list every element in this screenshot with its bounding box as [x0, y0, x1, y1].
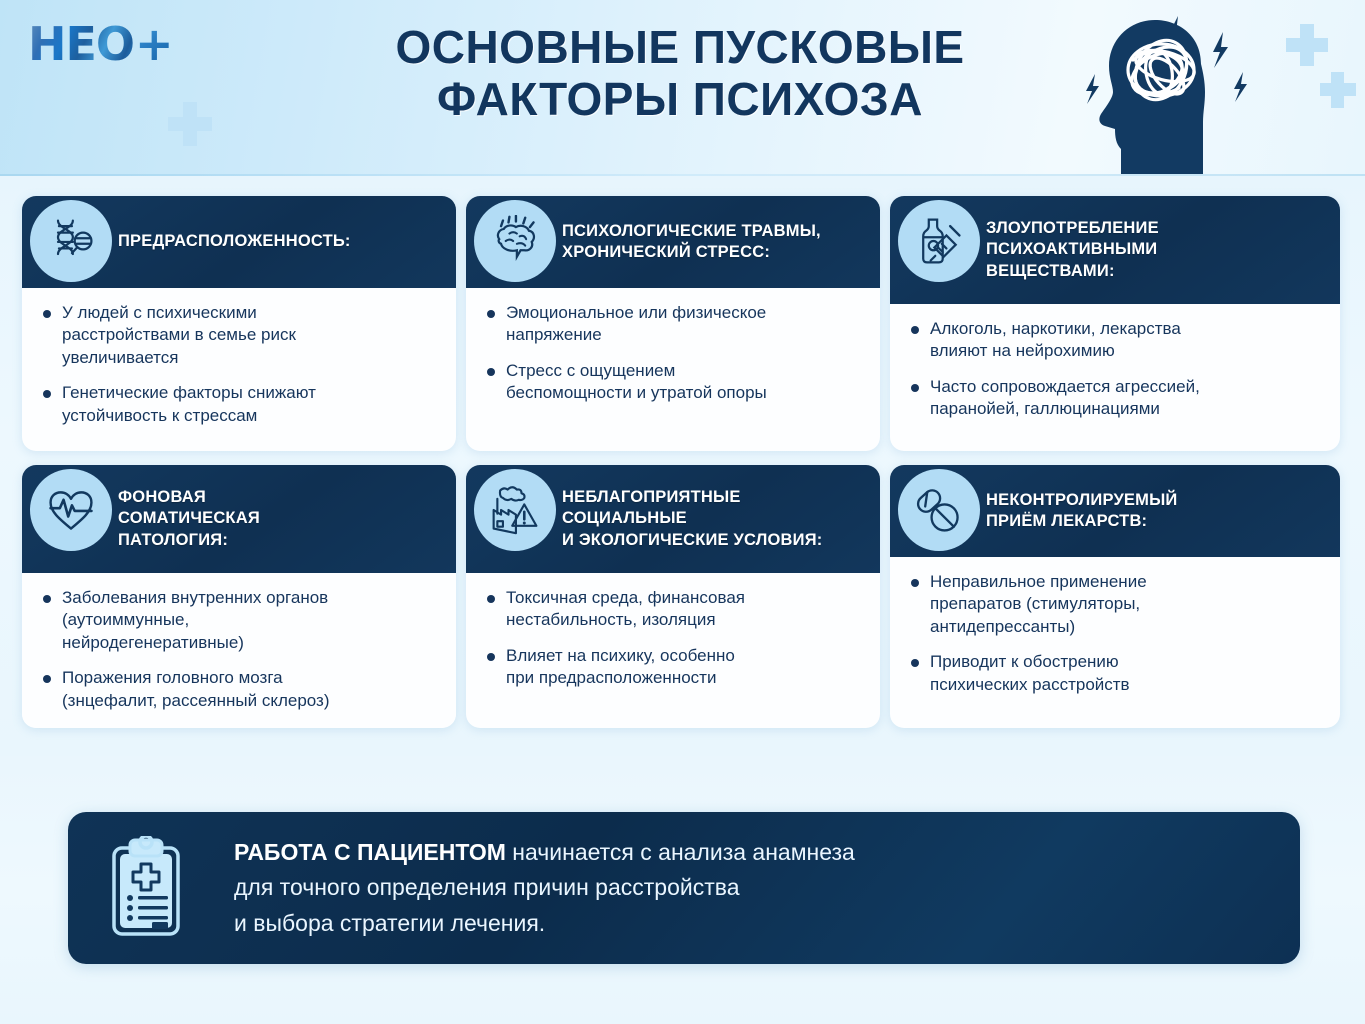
brand-logo[interactable]: НЕО +: [28, 18, 174, 70]
clipboard-medical-icon: [92, 836, 200, 940]
list-item: Стресс с ощущением беспомощности и утрат…: [480, 360, 864, 405]
logo-plus-icon: +: [135, 21, 174, 67]
footer-text: РАБОТА С ПАЦИЕНТОМ начинается с анализа …: [234, 835, 855, 942]
page-title-line-2: ФАКТОРЫ ПСИХОЗА: [330, 74, 1030, 126]
plus-decoration-header-3: [1320, 72, 1356, 108]
factor-card-body: Эмоциональное или физическое напряжениеС…: [466, 288, 880, 421]
dna-magnifier-icon: [30, 200, 112, 282]
factor-bullet-list: Заболевания внутренних органов (аутоимму…: [36, 587, 440, 712]
factor-bullet-list: Неправильное применение препаратов (стим…: [904, 571, 1324, 696]
factor-card-header: НЕКОНТРОЛИРУЕМЫЙ ПРИЁМ ЛЕКАРСТВ:: [890, 465, 1340, 557]
factor-cards-grid: ПРЕДРАСПОЛОЖЕННОСТЬ:У людей с психически…: [22, 196, 1344, 728]
factor-bullet-list: Эмоциональное или физическое напряжениеС…: [480, 302, 864, 405]
page-title-line-1: ОСНОВНЫЕ ПУСКОВЫЕ: [330, 22, 1030, 74]
footer-bold-lead: РАБОТА С ПАЦИЕНТОМ: [234, 839, 506, 865]
list-item: Заболевания внутренних органов (аутоимму…: [36, 587, 440, 654]
footer-line-1: РАБОТА С ПАЦИЕНТОМ начинается с анализа …: [234, 835, 855, 871]
head-with-tangled-thoughts-icon: [1053, 4, 1283, 174]
list-item: Токсичная среда, финансовая нестабильнос…: [480, 587, 864, 632]
factor-card-body: Алкоголь, наркотики, лекарства влияют на…: [890, 304, 1340, 437]
list-item: Алкоголь, наркотики, лекарства влияют на…: [904, 318, 1324, 363]
plus-decoration-header-2: [1286, 24, 1328, 66]
stressed-brain-icon: [474, 200, 556, 282]
list-item: Неправильное применение препаратов (стим…: [904, 571, 1324, 638]
factor-card-title: ПРЕДРАСПОЛОЖЕННОСТЬ:: [118, 231, 351, 252]
factor-card-title: НЕБЛАГОПРИЯТНЫЕ СОЦИАЛЬНЫЕ И ЭКОЛОГИЧЕСК…: [562, 487, 822, 550]
page-header: НЕО + ОСНОВНЫЕ ПУСКОВЫЕ ФАКТОРЫ ПСИХОЗА: [0, 0, 1365, 176]
pills-icon: [898, 469, 980, 551]
list-item: Поражения головного мозга (знцефалит, ра…: [36, 667, 440, 712]
factor-card-header: ЗЛОУПОТРЕБЛЕНИЕ ПСИХОАКТИВНЫМИ ВЕЩЕСТВАМ…: [890, 196, 1340, 304]
list-item: Часто сопровождается агрессией, паранойе…: [904, 376, 1324, 421]
factor-card: ФОНОВАЯ СОМАТИЧЕСКАЯ ПАТОЛОГИЯ:Заболеван…: [22, 465, 456, 728]
factor-bullet-list: У людей с психическими расстройствами в …: [36, 302, 440, 427]
factor-card-title: ПСИХОЛОГИЧЕСКИЕ ТРАВМЫ, ХРОНИЧЕСКИЙ СТРЕ…: [562, 221, 821, 263]
footer-line-3: и выбора стратегии лечения.: [234, 906, 855, 942]
factor-card-body: Токсичная среда, финансовая нестабильнос…: [466, 573, 880, 706]
factor-card: ПРЕДРАСПОЛОЖЕННОСТЬ:У людей с психически…: [22, 196, 456, 451]
factor-card: НЕКОНТРОЛИРУЕМЫЙ ПРИЁМ ЛЕКАРСТВ:Неправил…: [890, 465, 1340, 728]
factor-card: НЕБЛАГОПРИЯТНЫЕ СОЦИАЛЬНЫЕ И ЭКОЛОГИЧЕСК…: [466, 465, 880, 728]
page-title: ОСНОВНЫЕ ПУСКОВЫЕ ФАКТОРЫ ПСИХОЗА: [330, 22, 1030, 125]
factor-bullet-list: Алкоголь, наркотики, лекарства влияют на…: [904, 318, 1324, 421]
factor-card-body: Неправильное применение препаратов (стим…: [890, 557, 1340, 712]
footer-line-2: для точного определения причин расстройс…: [234, 870, 855, 906]
factor-card-header: ПСИХОЛОГИЧЕСКИЕ ТРАВМЫ, ХРОНИЧЕСКИЙ СТРЕ…: [466, 196, 880, 288]
factor-card-title: ФОНОВАЯ СОМАТИЧЕСКАЯ ПАТОЛОГИЯ:: [118, 487, 260, 550]
factor-card-body: Заболевания внутренних органов (аутоимму…: [22, 573, 456, 728]
factor-card-title: ЗЛОУПОТРЕБЛЕНИЕ ПСИХОАКТИВНЫМИ ВЕЩЕСТВАМ…: [986, 218, 1159, 281]
list-item: Приводит к обострению психических расстр…: [904, 651, 1324, 696]
factor-card: ЗЛОУПОТРЕБЛЕНИЕ ПСИХОАКТИВНЫМИ ВЕЩЕСТВАМ…: [890, 196, 1340, 451]
list-item: Влияет на психику, особенно при предрасп…: [480, 645, 864, 690]
factory-warning-icon: [474, 469, 556, 551]
factor-card-header: ПРЕДРАСПОЛОЖЕННОСТЬ:: [22, 196, 456, 288]
factor-card-body: У людей с психическими расстройствами в …: [22, 288, 456, 443]
list-item: Эмоциональное или физическое напряжение: [480, 302, 864, 347]
factor-card-title: НЕКОНТРОЛИРУЕМЫЙ ПРИЁМ ЛЕКАРСТВ:: [986, 490, 1177, 532]
heart-pulse-icon: [30, 469, 112, 551]
footer-line-1-rest: начинается с анализа анамнеза: [506, 839, 855, 865]
factor-bullet-list: Токсичная среда, финансовая нестабильнос…: [480, 587, 864, 690]
plus-decoration-header-1: [168, 102, 212, 146]
factor-card-header: ФОНОВАЯ СОМАТИЧЕСКАЯ ПАТОЛОГИЯ:: [22, 465, 456, 573]
list-item: У людей с психическими расстройствами в …: [36, 302, 440, 369]
footer-callout-banner: РАБОТА С ПАЦИЕНТОМ начинается с анализа …: [68, 812, 1300, 964]
logo-text: НЕО: [28, 21, 134, 67]
list-item: Генетические факторы снижают устойчивост…: [36, 382, 440, 427]
factor-card: ПСИХОЛОГИЧЕСКИЕ ТРАВМЫ, ХРОНИЧЕСКИЙ СТРЕ…: [466, 196, 880, 451]
factor-card-header: НЕБЛАГОПРИЯТНЫЕ СОЦИАЛЬНЫЕ И ЭКОЛОГИЧЕСК…: [466, 465, 880, 573]
infographic-page: НЕО + ОСНОВНЫЕ ПУСКОВЫЕ ФАКТОРЫ ПСИХОЗА: [0, 0, 1365, 1024]
bottle-syringe-icon: [898, 200, 980, 282]
